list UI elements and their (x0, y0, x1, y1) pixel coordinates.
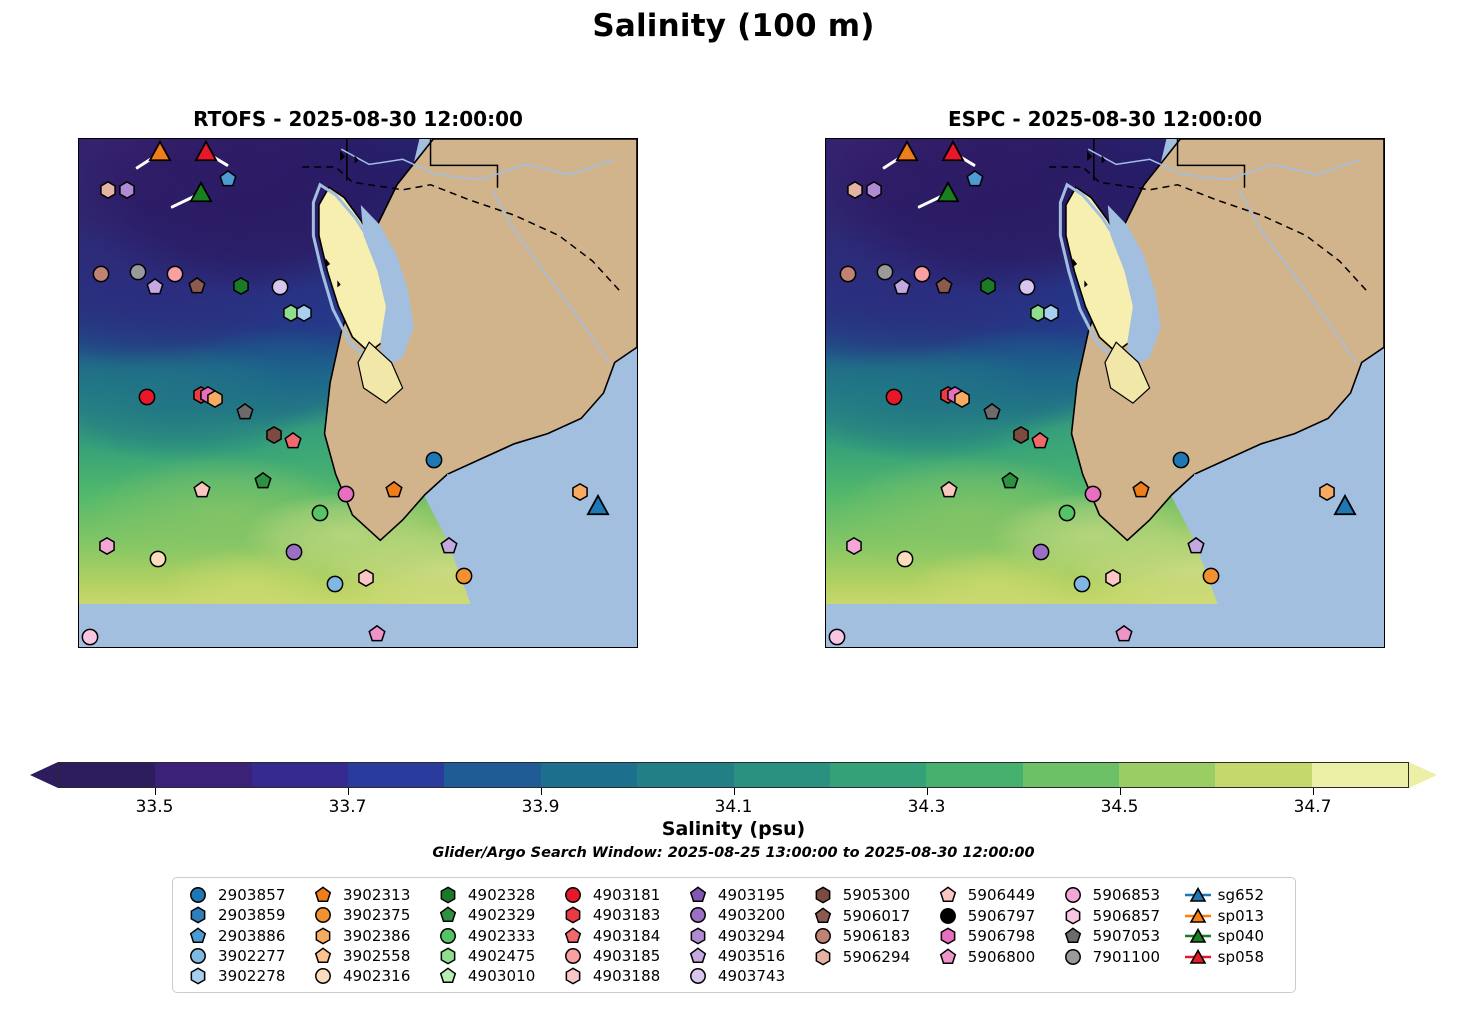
lon-tick (549, 647, 550, 648)
legend-label: 5906797 (968, 907, 1036, 925)
legend-label: sp013 (1218, 907, 1264, 925)
legend-label: 5907053 (1093, 927, 1161, 945)
map-marker-sp058[interactable] (942, 140, 964, 162)
platform-legend[interactable]: 2903857290385929038863902277390227839023… (172, 877, 1296, 993)
lat-tick-minor (78, 592, 79, 593)
colorbar-band-11 (1119, 763, 1215, 787)
lon-tick-minor (1305, 647, 1306, 648)
map-marker-4903743[interactable] (1018, 279, 1035, 296)
lat-tick-minor (78, 191, 79, 192)
colorbar-tick-label: 34.3 (908, 797, 946, 817)
map-marker-3902386b[interactable] (1318, 484, 1335, 501)
legend-item-sg652[interactable]: sg652 (1185, 885, 1285, 906)
lon-tick-minor (585, 647, 586, 648)
map-marker-4903294[interactable] (865, 181, 882, 198)
argo-marker-icon (560, 928, 586, 944)
argo-marker-icon (560, 907, 586, 923)
lat-tick-minor (78, 563, 79, 564)
lat-tick-minor (78, 305, 79, 306)
map-marker-5906449[interactable] (194, 482, 211, 499)
colorbar-band-7 (734, 763, 830, 787)
legend-column-8: sg652sp013sp040sp058 (1185, 885, 1285, 986)
map-canvas-espc[interactable]: 33°N30°N27°N24°N21°N18°N15°N12°N9°N126°W… (825, 138, 1385, 648)
lat-tick-minor (1384, 162, 1385, 163)
legend-item-5906017[interactable]: 5906017 (810, 906, 935, 927)
map-marker-5906800[interactable] (1116, 625, 1133, 642)
colorbar-tick (1313, 788, 1314, 795)
argo-marker-icon (185, 907, 211, 923)
lat-tick-minor (1384, 620, 1385, 621)
legend-label: 5906294 (843, 948, 911, 966)
lat-tick-minor (78, 362, 79, 363)
argo-marker-icon (560, 887, 586, 903)
lon-tick-minor (1029, 647, 1030, 648)
argo-marker-icon (1060, 928, 1086, 944)
lat-tick-minor (78, 248, 79, 249)
legend-label: 7901100 (1093, 948, 1161, 966)
argo-marker-icon (935, 908, 961, 924)
map-marker-5906017[interactable] (188, 278, 205, 295)
legend-item-4902475[interactable]: 4902475 (435, 946, 560, 966)
argo-marker-icon (435, 968, 461, 984)
legend-item-2903857[interactable]: 2903857 (185, 885, 310, 905)
panel-title-rtofs: RTOFS - 2025-08-30 12:00:00 (78, 107, 638, 138)
legend-label: 4903185 (593, 947, 661, 965)
map-marker-sg652[interactable] (1334, 494, 1356, 516)
map-marker-3902386[interactable] (207, 390, 224, 407)
map-panel-rtofs: RTOFS - 2025-08-30 12:00:00 33°N30°N27°N… (78, 138, 638, 648)
lat-tick-minor (1384, 305, 1385, 306)
map-marker-4903195[interactable] (441, 537, 458, 554)
lon-tick (217, 647, 218, 648)
map-marker-3902277[interactable] (1073, 575, 1090, 592)
map-marker-4903200[interactable] (286, 543, 303, 560)
map-marker-4902333[interactable] (1059, 505, 1076, 522)
lon-tick-minor (1250, 647, 1251, 648)
argo-marker-icon (685, 968, 711, 984)
legend-label: 4902333 (468, 927, 536, 945)
colorbar-band-13 (1312, 763, 1408, 787)
map-marker-4903188[interactable] (358, 570, 375, 587)
argo-marker-icon (310, 968, 336, 984)
legend-label: 5906017 (843, 907, 911, 925)
map-marker-4902316[interactable] (150, 551, 167, 568)
lon-tick-minor (890, 647, 891, 648)
legend-item-4903200[interactable]: 4903200 (685, 905, 810, 925)
map-marker-5906800[interactable] (369, 625, 386, 642)
map-marker-5905300[interactable] (1013, 427, 1030, 444)
argo-marker-icon (185, 948, 211, 964)
map-marker-3902277[interactable] (326, 575, 343, 592)
legend-item-4902333[interactable]: 4902333 (435, 925, 560, 945)
map-marker-4903200[interactable] (1033, 543, 1050, 560)
lon-tick (107, 647, 108, 648)
map-marker-4903184[interactable] (284, 432, 301, 449)
lat-tick-minor (1384, 448, 1385, 449)
lon-tick-minor (1056, 647, 1057, 648)
map-marker-5906183[interactable] (840, 265, 857, 282)
map-marker-4902328[interactable] (980, 278, 997, 295)
legend-item-sp040[interactable]: sp040 (1185, 926, 1285, 947)
map-marker-4903516[interactable] (893, 279, 910, 296)
legend-column-1: 39023133902375390238639025584902316 (310, 885, 435, 986)
lon-tick-minor (1332, 647, 1333, 648)
legend-column-6: 5906449590679759067985906800 (935, 885, 1060, 986)
lon-tick-minor (282, 647, 283, 648)
lon-tick (964, 647, 965, 648)
map-marker-4903181[interactable] (886, 388, 903, 405)
lon-tick (854, 647, 855, 648)
legend-label: 3902558 (343, 947, 411, 965)
legend-label: 5906798 (968, 927, 1036, 945)
map-marker-sp040[interactable] (937, 181, 959, 203)
map-marker-7901100[interactable] (876, 263, 893, 280)
lon-tick (1240, 647, 1241, 648)
lat-tick-minor (78, 334, 79, 335)
map-marker-4903188[interactable] (1105, 570, 1122, 587)
lon-tick-minor (1001, 647, 1002, 648)
legend-label: 5906853 (1093, 886, 1161, 904)
map-marker-5906294[interactable] (847, 181, 864, 198)
legend-item-2903886[interactable]: 2903886 (185, 925, 310, 945)
legend-column-5: 5905300590601759061835906294 (810, 885, 935, 986)
legend-item-4902329[interactable]: 4902329 (435, 905, 560, 925)
map-marker-3902386[interactable] (954, 390, 971, 407)
argo-marker-icon (560, 948, 586, 964)
map-marker-2903857[interactable] (1173, 451, 1190, 468)
legend-label: sg652 (1218, 886, 1264, 904)
lat-tick-minor (78, 391, 79, 392)
colorbar-tick-label: 33.9 (522, 797, 560, 817)
legend-label: 4903184 (593, 927, 661, 945)
colorbar-tick-label: 33.5 (136, 797, 174, 817)
colorbar-band-9 (926, 763, 1022, 787)
argo-marker-icon (310, 948, 336, 964)
legend-item-4903185[interactable]: 4903185 (560, 946, 685, 966)
legend-item-5906449[interactable]: 5906449 (935, 885, 1060, 906)
lon-tick-minor (420, 647, 421, 648)
map-marker-5906017[interactable] (935, 278, 952, 295)
colorbar-bands (58, 762, 1409, 788)
colorbar-band-6 (637, 763, 733, 787)
argo-marker-icon (685, 948, 711, 964)
map-marker-sp058[interactable] (195, 140, 217, 162)
map-marker-2903857[interactable] (426, 451, 443, 468)
colorbar-band-8 (830, 763, 926, 787)
map-marker-5906183[interactable] (93, 265, 110, 282)
glider-marker-icon (1185, 908, 1211, 924)
lat-tick-minor (1384, 534, 1385, 535)
colorbar-band-2 (252, 763, 348, 787)
legend-label: 4903188 (593, 967, 661, 985)
colorbar-band-1 (155, 763, 251, 787)
lon-tick-minor (1277, 647, 1278, 648)
lon-tick-minor (1111, 647, 1112, 648)
map-marker-4903184[interactable] (1031, 432, 1048, 449)
search-window-caption: Glider/Argo Search Window: 2025-08-25 13… (0, 845, 1467, 861)
legend-item-4903195[interactable]: 4903195 (685, 885, 810, 905)
argo-marker-icon (685, 907, 711, 923)
legend-item-3902375[interactable]: 3902375 (310, 905, 435, 925)
colorbar-tick-label: 34.7 (1294, 797, 1332, 817)
legend-item-5906798[interactable]: 5906798 (935, 926, 1060, 947)
legend-item-sp058[interactable]: sp058 (1185, 947, 1285, 968)
legend-item-4903184[interactable]: 4903184 (560, 925, 685, 945)
map-marker-4902316[interactable] (897, 551, 914, 568)
map-marker-4902329[interactable] (1002, 472, 1019, 489)
panel-title-espc: ESPC - 2025-08-30 12:00:00 (825, 107, 1385, 138)
map-marker-5906449[interactable] (941, 482, 958, 499)
map-marker-5906853[interactable] (98, 537, 115, 554)
lat-tick-minor (1384, 592, 1385, 593)
lat-tick-minor (78, 420, 79, 421)
legend-label: 4903181 (593, 886, 661, 904)
lon-tick-minor (364, 647, 365, 648)
legend-item-3902277[interactable]: 3902277 (185, 946, 310, 966)
lat-tick-minor (78, 534, 79, 535)
colorbar-tick-label: 34.5 (1101, 797, 1139, 817)
figure-root: Salinity (100 m) RTOFS - 2025-08-30 12:0… (0, 0, 1467, 1014)
legend-label: 4903294 (718, 927, 786, 945)
colorbar-tick (734, 788, 735, 795)
lat-tick-minor (78, 277, 79, 278)
colorbar-tick (927, 788, 928, 795)
map-marker-4902333[interactable] (312, 505, 329, 522)
argo-marker-icon (560, 968, 586, 984)
legend-item-4903516[interactable]: 4903516 (685, 946, 810, 966)
argo-marker-icon (310, 907, 336, 923)
argo-marker-icon (185, 887, 211, 903)
lon-tick-minor (613, 647, 614, 648)
lon-tick (909, 647, 910, 648)
lon-tick (438, 647, 439, 648)
map-marker-4903185[interactable] (166, 265, 183, 282)
legend-item-2903859[interactable]: 2903859 (185, 905, 310, 925)
legend-item-5907053[interactable]: 5907053 (1060, 926, 1185, 947)
map-marker-3902278[interactable] (295, 304, 312, 321)
lon-tick-minor (447, 647, 448, 648)
argo-marker-icon (1060, 908, 1086, 924)
lat-tick (1384, 391, 1385, 392)
map-canvas-rtofs[interactable]: 33°N30°N27°N24°N21°N18°N15°N12°N9°N126°W… (78, 138, 638, 648)
legend-item-7901100[interactable]: 7901100 (1060, 947, 1185, 968)
colorbar-tick (348, 788, 349, 795)
legend-grid: 2903857290385929038863902277390227839023… (185, 885, 1285, 986)
lon-tick (1185, 647, 1186, 648)
map-marker-sg652[interactable] (587, 494, 609, 516)
lon-tick-minor (254, 647, 255, 648)
legend-label: 4903010 (468, 967, 536, 985)
lon-tick (162, 647, 163, 648)
legend-label: 4903200 (718, 906, 786, 924)
argo-marker-icon (435, 887, 461, 903)
lat-tick-minor (1384, 420, 1385, 421)
legend-label: 4902328 (468, 886, 536, 904)
argo-marker-icon (435, 907, 461, 923)
map-marker-4903195[interactable] (1188, 537, 1205, 554)
map-marker-2903886[interactable] (220, 171, 237, 188)
lon-tick (328, 647, 329, 648)
legend-label: 5906857 (1093, 907, 1161, 925)
lon-tick (383, 647, 384, 648)
map-marker-5906797[interactable] (1085, 486, 1102, 503)
legend-label: 4902316 (343, 967, 411, 985)
legend-label: 3902375 (343, 906, 411, 924)
argo-marker-icon (685, 928, 711, 944)
lon-tick (1130, 647, 1131, 648)
lon-tick (272, 647, 273, 648)
map-marker-sp013[interactable] (149, 140, 171, 162)
legend-item-4903183[interactable]: 4903183 (560, 905, 685, 925)
legend-item-5906183[interactable]: 5906183 (810, 926, 935, 947)
legend-column-0: 29038572903859290388639022773902278 (185, 885, 310, 986)
legend-item-sp013[interactable]: sp013 (1185, 906, 1285, 927)
lon-tick-minor (918, 647, 919, 648)
map-marker-sp013[interactable] (896, 140, 918, 162)
argo-marker-icon (1060, 887, 1086, 903)
legend-item-4903181[interactable]: 4903181 (560, 885, 685, 905)
argo-marker-icon (810, 928, 836, 944)
map-marker-2903886[interactable] (967, 171, 984, 188)
lon-tick-minor (143, 647, 144, 648)
colorbar-tick (541, 788, 542, 795)
map-marker-5906797[interactable] (338, 486, 355, 503)
legend-item-4903294[interactable]: 4903294 (685, 925, 810, 945)
map-marker-4903181[interactable] (139, 388, 156, 405)
argo-marker-icon (310, 928, 336, 944)
colorbar-band-12 (1215, 763, 1311, 787)
legend-item-3902313[interactable]: 3902313 (310, 885, 435, 905)
map-marker-4903743[interactable] (271, 279, 288, 296)
colorbar-extend-low (30, 762, 58, 788)
map-marker-4903516[interactable] (146, 279, 163, 296)
legend-item-5906853[interactable]: 5906853 (1060, 885, 1185, 906)
colorbar-band-10 (1023, 763, 1119, 787)
map-marker-3902375[interactable] (455, 568, 472, 585)
lat-tick-minor (78, 448, 79, 449)
legend-item-3902278[interactable]: 3902278 (185, 966, 310, 986)
lat-tick-minor (1384, 362, 1385, 363)
legend-label: 5906449 (968, 886, 1036, 904)
legend-item-5906857[interactable]: 5906857 (1060, 906, 1185, 927)
map-marker-4903294[interactable] (118, 181, 135, 198)
lon-tick (1075, 647, 1076, 648)
legend-column-2: 49023284902329490233349024754903010 (435, 885, 560, 986)
lon-tick-minor (1222, 647, 1223, 648)
legend-item-5905300[interactable]: 5905300 (810, 885, 935, 906)
legend-label: sp040 (1218, 927, 1264, 945)
argo-marker-icon (810, 887, 836, 903)
lon-tick-minor (1194, 647, 1195, 648)
legend-label: 4902329 (468, 906, 536, 924)
legend-label: 2903859 (218, 906, 286, 924)
lat-tick-minor (1384, 219, 1385, 220)
legend-label: 4902475 (468, 947, 536, 965)
lon-tick (1019, 647, 1020, 648)
lat-tick (1384, 620, 1385, 621)
lon-tick-minor (88, 647, 89, 648)
legend-label: 3902278 (218, 967, 286, 985)
map-marker-3902375[interactable] (1202, 568, 1219, 585)
lon-tick-minor (973, 647, 974, 648)
map-marker-3902313[interactable] (1132, 482, 1149, 499)
legend-label: 5905300 (843, 886, 911, 904)
legend-item-4902316[interactable]: 4902316 (310, 966, 435, 986)
map-marker-5906857[interactable] (82, 629, 99, 646)
legend-item-5906294[interactable]: 5906294 (810, 947, 935, 968)
map-marker-5906857[interactable] (829, 629, 846, 646)
colorbar: 33.533.733.934.134.334.534.7 (30, 762, 1437, 788)
legend-label: 3902386 (343, 927, 411, 945)
legend-item-5906800[interactable]: 5906800 (935, 947, 1060, 968)
argo-marker-icon (185, 968, 211, 984)
colorbar-band-4 (444, 763, 540, 787)
map-marker-3902386b[interactable] (571, 484, 588, 501)
lon-tick (604, 647, 605, 648)
legend-item-4903743[interactable]: 4903743 (685, 966, 810, 986)
map-marker-3902313[interactable] (385, 482, 402, 499)
map-marker-4902328[interactable] (233, 278, 250, 295)
argo-marker-icon (435, 928, 461, 944)
map-marker-3902278[interactable] (1042, 304, 1059, 321)
lon-tick-minor (1139, 647, 1140, 648)
lat-tick-minor (1384, 477, 1385, 478)
colorbar-tick-label: 33.7 (329, 797, 367, 817)
map-marker-5906294[interactable] (100, 181, 117, 198)
lat-tick-minor (1384, 334, 1385, 335)
legend-label: 2903857 (218, 886, 286, 904)
legend-label: 4903516 (718, 947, 786, 965)
figure-suptitle: Salinity (100 m) (0, 8, 1467, 44)
lat-tick-minor (78, 219, 79, 220)
argo-marker-icon (935, 887, 961, 903)
colorbar-extend-high (1409, 762, 1437, 788)
lat-tick (1384, 506, 1385, 507)
argo-marker-icon (310, 887, 336, 903)
map-marker-7901100[interactable] (129, 263, 146, 280)
lat-tick-minor (78, 162, 79, 163)
map-marker-4903185[interactable] (913, 265, 930, 282)
lat-tick-minor (1384, 191, 1385, 192)
map-marker-5907053[interactable] (983, 404, 1000, 421)
argo-marker-icon (810, 908, 836, 924)
legend-column-3: 49031814903183490318449031854903188 (560, 885, 685, 986)
legend-item-4902328[interactable]: 4902328 (435, 885, 560, 905)
map-marker-sp040[interactable] (190, 181, 212, 203)
map-marker-4902329[interactable] (255, 472, 272, 489)
legend-item-5906797[interactable]: 5906797 (935, 906, 1060, 927)
lon-tick-minor (863, 647, 864, 648)
lat-tick-minor (78, 477, 79, 478)
legend-item-3902386[interactable]: 3902386 (310, 925, 435, 945)
colorbar-band-5 (541, 763, 637, 787)
argo-marker-icon (435, 948, 461, 964)
lat-tick (1384, 162, 1385, 163)
argo-marker-icon (810, 949, 836, 965)
legend-item-4903188[interactable]: 4903188 (560, 966, 685, 986)
legend-label: 5906183 (843, 927, 911, 945)
legend-label: sp058 (1218, 948, 1264, 966)
legend-item-4903010[interactable]: 4903010 (435, 966, 560, 986)
map-marker-5906853[interactable] (845, 537, 862, 554)
colorbar-tick (1120, 788, 1121, 795)
colorbar-band-0 (59, 763, 155, 787)
legend-item-3902558[interactable]: 3902558 (310, 946, 435, 966)
lat-tick (1384, 334, 1385, 335)
lon-tick-minor (309, 647, 310, 648)
map-marker-5907053[interactable] (236, 404, 253, 421)
map-marker-5905300[interactable] (266, 427, 283, 444)
